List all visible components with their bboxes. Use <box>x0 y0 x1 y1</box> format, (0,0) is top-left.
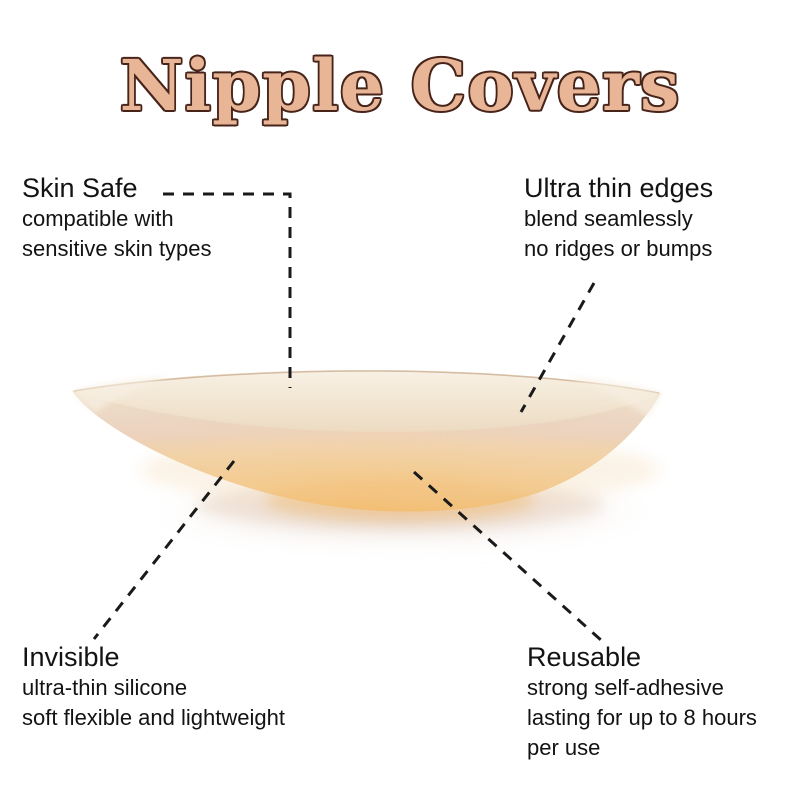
callout-reusable: Reusable strong self-adhesive lasting fo… <box>527 641 757 763</box>
callout-line: lasting for up to 8 hours <box>527 703 757 733</box>
product-underside-shading <box>140 434 660 520</box>
callout-skin-safe: Skin Safe compatible with sensitive skin… <box>22 172 212 264</box>
product-shadow <box>125 479 681 545</box>
callout-line: soft flexible and lightweight <box>22 703 285 733</box>
callout-line: compatible with <box>22 204 212 234</box>
leader-reusable <box>414 472 602 641</box>
product-body <box>72 370 661 512</box>
leader-ultra-thin-edges <box>521 283 594 412</box>
callout-line: no ridges or bumps <box>524 234 713 264</box>
callout-line: ultra-thin silicone <box>22 673 285 703</box>
callout-ultra-thin-edges: Ultra thin edges blend seamlessly no rid… <box>524 172 713 264</box>
callout-line: strong self-adhesive <box>527 673 757 703</box>
title-container: Nipple Covers <box>0 47 800 125</box>
callout-heading: Ultra thin edges <box>524 172 713 204</box>
page-title: Nipple Covers <box>120 47 681 125</box>
product-edge-tips <box>72 376 661 417</box>
infographic-canvas: Nipple Covers Skin Safe compatible with … <box>0 0 800 800</box>
callout-heading: Invisible <box>22 641 285 673</box>
callout-heading: Skin Safe <box>22 172 212 204</box>
callout-invisible: Invisible ultra-thin silicone soft flexi… <box>22 641 285 733</box>
callout-line: per use <box>527 733 757 763</box>
callout-heading: Reusable <box>527 641 757 673</box>
callout-line: sensitive skin types <box>22 234 212 264</box>
product-rim <box>72 370 661 435</box>
callout-line: blend seamlessly <box>524 204 713 234</box>
leader-invisible <box>94 461 234 639</box>
